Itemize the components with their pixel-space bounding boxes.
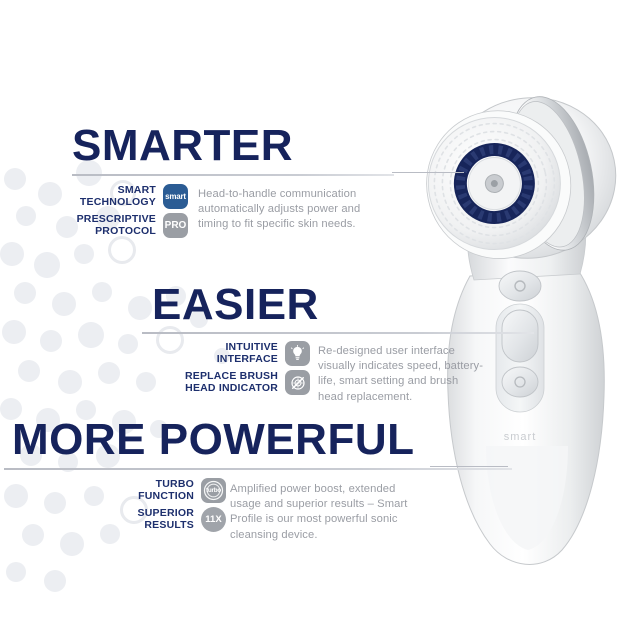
label-line-2: PROTOCOL <box>95 225 156 237</box>
label-line-2: INTERFACE <box>217 353 278 365</box>
smart-badge-label: smart <box>165 192 186 201</box>
leader-line-handle <box>430 466 508 467</box>
pro-badge-label: PRO <box>165 220 187 231</box>
feature-row-replace-brush-head[interactable]: REPLACE BRUSH HEAD INDICATOR <box>178 370 312 395</box>
description-smarter: Head-to-handle communication automatical… <box>198 187 388 233</box>
feature-list-more-powerful: TURBO FUNCTION turbo SUPERIOR RESULTS <box>108 478 228 536</box>
pro-badge-icon: PRO <box>163 213 188 238</box>
feature-label-prescriptive-protocol: PRESCRIPTIVE PROTOCOL <box>60 214 156 238</box>
divider-more-powerful <box>4 468 512 470</box>
leader-line-brush-head <box>392 172 464 173</box>
feature-row-intuitive-interface[interactable]: INTUITIVE INTERFACE <box>178 341 312 366</box>
label-line-1: SMART <box>118 184 156 196</box>
label-line-2: TECHNOLOGY <box>80 196 156 208</box>
feature-list-easier: INTUITIVE INTERFACE REPLACE BRUSH HEAD I… <box>178 341 312 399</box>
description-more-powerful: Amplified power boost, extended usage an… <box>230 482 426 543</box>
infographic-canvas: smart SMARTER SMART TECHNOLOGY smart PRE… <box>0 0 640 640</box>
feature-label-intuitive-interface: INTUITIVE INTERFACE <box>178 342 278 366</box>
feature-row-superior-results[interactable]: SUPERIOR RESULTS 11X <box>108 507 228 532</box>
label-line-1: INTUITIVE <box>225 341 278 353</box>
feature-label-turbo-function: TURBO FUNCTION <box>108 479 194 503</box>
headline-more-powerful: MORE POWERFUL <box>12 418 414 462</box>
label-line-1: PRESCRIPTIVE <box>77 213 156 225</box>
feature-label-replace-brush-head: REPLACE BRUSH HEAD INDICATOR <box>178 371 278 395</box>
feature-label-smart-technology: SMART TECHNOLOGY <box>60 185 156 209</box>
feature-row-prescriptive-protocol[interactable]: PRESCRIPTIVE PROTOCOL PRO <box>60 213 190 238</box>
label-line-2: RESULTS <box>144 519 194 531</box>
feature-label-superior-results: SUPERIOR RESULTS <box>108 508 194 532</box>
turbo-badge-label: turbo <box>206 487 221 494</box>
turbo-badge-icon: turbo <box>201 478 226 503</box>
smart-badge-icon: smart <box>163 184 188 209</box>
eleven-x-badge-icon: 11X <box>201 507 226 532</box>
headline-smarter: SMARTER <box>72 124 293 168</box>
feature-row-smart-technology[interactable]: SMART TECHNOLOGY smart <box>60 184 190 209</box>
lightbulb-icon <box>285 341 310 366</box>
divider-easier <box>142 332 534 334</box>
headline-easier: EASIER <box>152 283 319 327</box>
feature-row-turbo-function[interactable]: TURBO FUNCTION turbo <box>108 478 228 503</box>
divider-smarter <box>72 174 394 176</box>
feature-list-smarter: SMART TECHNOLOGY smart PRESCRIPTIVE PROT… <box>60 184 190 242</box>
label-line-2: HEAD INDICATOR <box>185 382 278 394</box>
product-device-image: smart <box>412 80 640 580</box>
label-line-1: REPLACE BRUSH <box>185 370 278 382</box>
description-easier: Re-designed user interface visually indi… <box>318 344 486 405</box>
replace-brush-head-icon <box>285 370 310 395</box>
label-line-2: FUNCTION <box>138 490 194 502</box>
label-line-1: SUPERIOR <box>138 507 194 519</box>
eleven-x-badge-label: 11X <box>205 514 221 525</box>
label-line-1: TURBO <box>156 478 194 490</box>
svg-text:smart: smart <box>504 431 537 443</box>
